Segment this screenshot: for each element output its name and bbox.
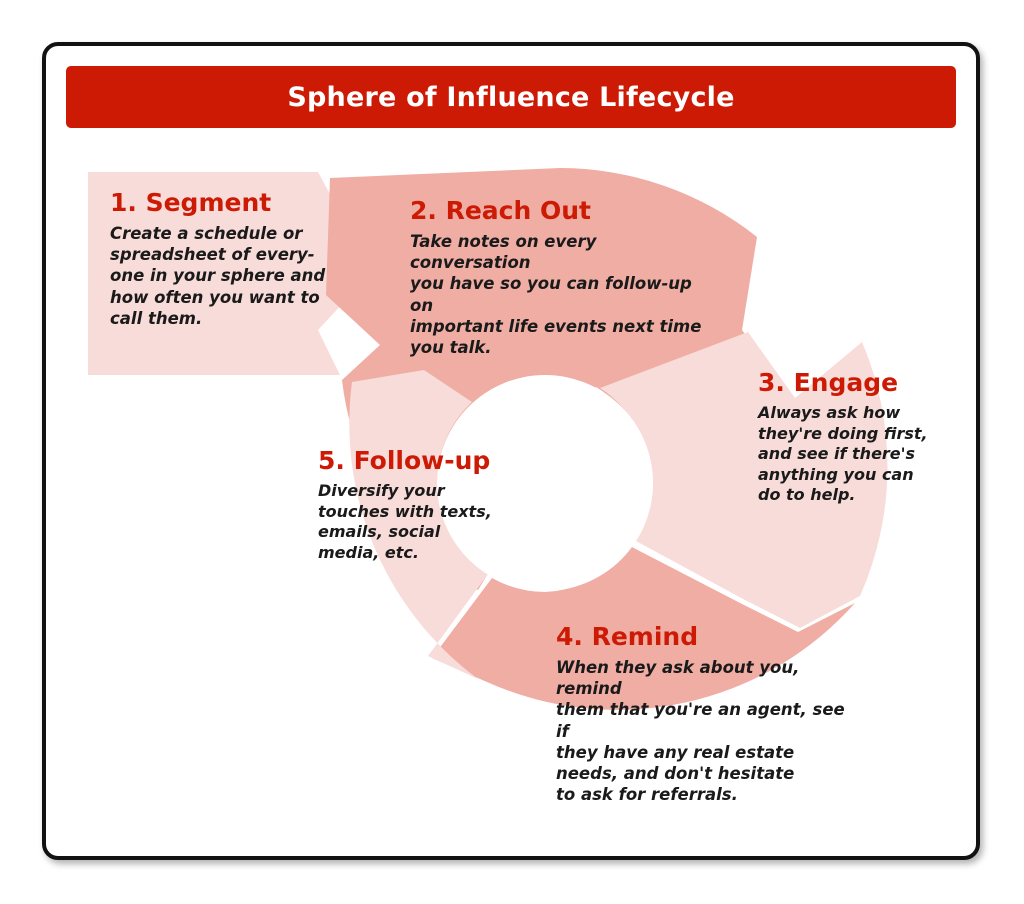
cycle-segment-4-label: 4. Remind: [556, 624, 856, 650]
cycle-segment-3-body: Always ask how they're doing first, and …: [758, 403, 948, 505]
cycle-segment-5-label: 5. Follow-up: [318, 448, 518, 474]
page-title: Sphere of Influence Lifecycle: [287, 82, 734, 113]
cycle-segment-5-text: 5. Follow-up Diversify your touches with…: [318, 448, 518, 563]
cycle-segment-1-text: 1. Segment Create a schedule or spreadsh…: [110, 190, 342, 329]
cycle-segment-5-body: Diversify your touches with texts, email…: [318, 481, 518, 563]
cycle-segment-1-body: Create a schedule or spreadsheet of ever…: [110, 223, 342, 329]
infographic-canvas: Sphere of Influence Lifecycle 1. Segment…: [0, 0, 1024, 904]
cycle-segment-2-text: 2. Reach Out Take notes on every convers…: [410, 198, 710, 358]
cycle-segment-3-label: 3. Engage: [758, 370, 948, 396]
cycle-segment-1-label: 1. Segment: [110, 190, 342, 216]
cycle-segment-4-body: When they ask about you, remind them tha…: [556, 657, 856, 805]
cycle-segment-3-text: 3. Engage Always ask how they're doing f…: [758, 370, 948, 506]
cycle-segment-4-text: 4. Remind When they ask about you, remin…: [556, 624, 856, 805]
cycle-segment-2-label: 2. Reach Out: [410, 198, 710, 224]
cycle-segment-2-body: Take notes on every conversation you hav…: [410, 231, 710, 358]
title-banner: Sphere of Influence Lifecycle: [66, 66, 956, 128]
